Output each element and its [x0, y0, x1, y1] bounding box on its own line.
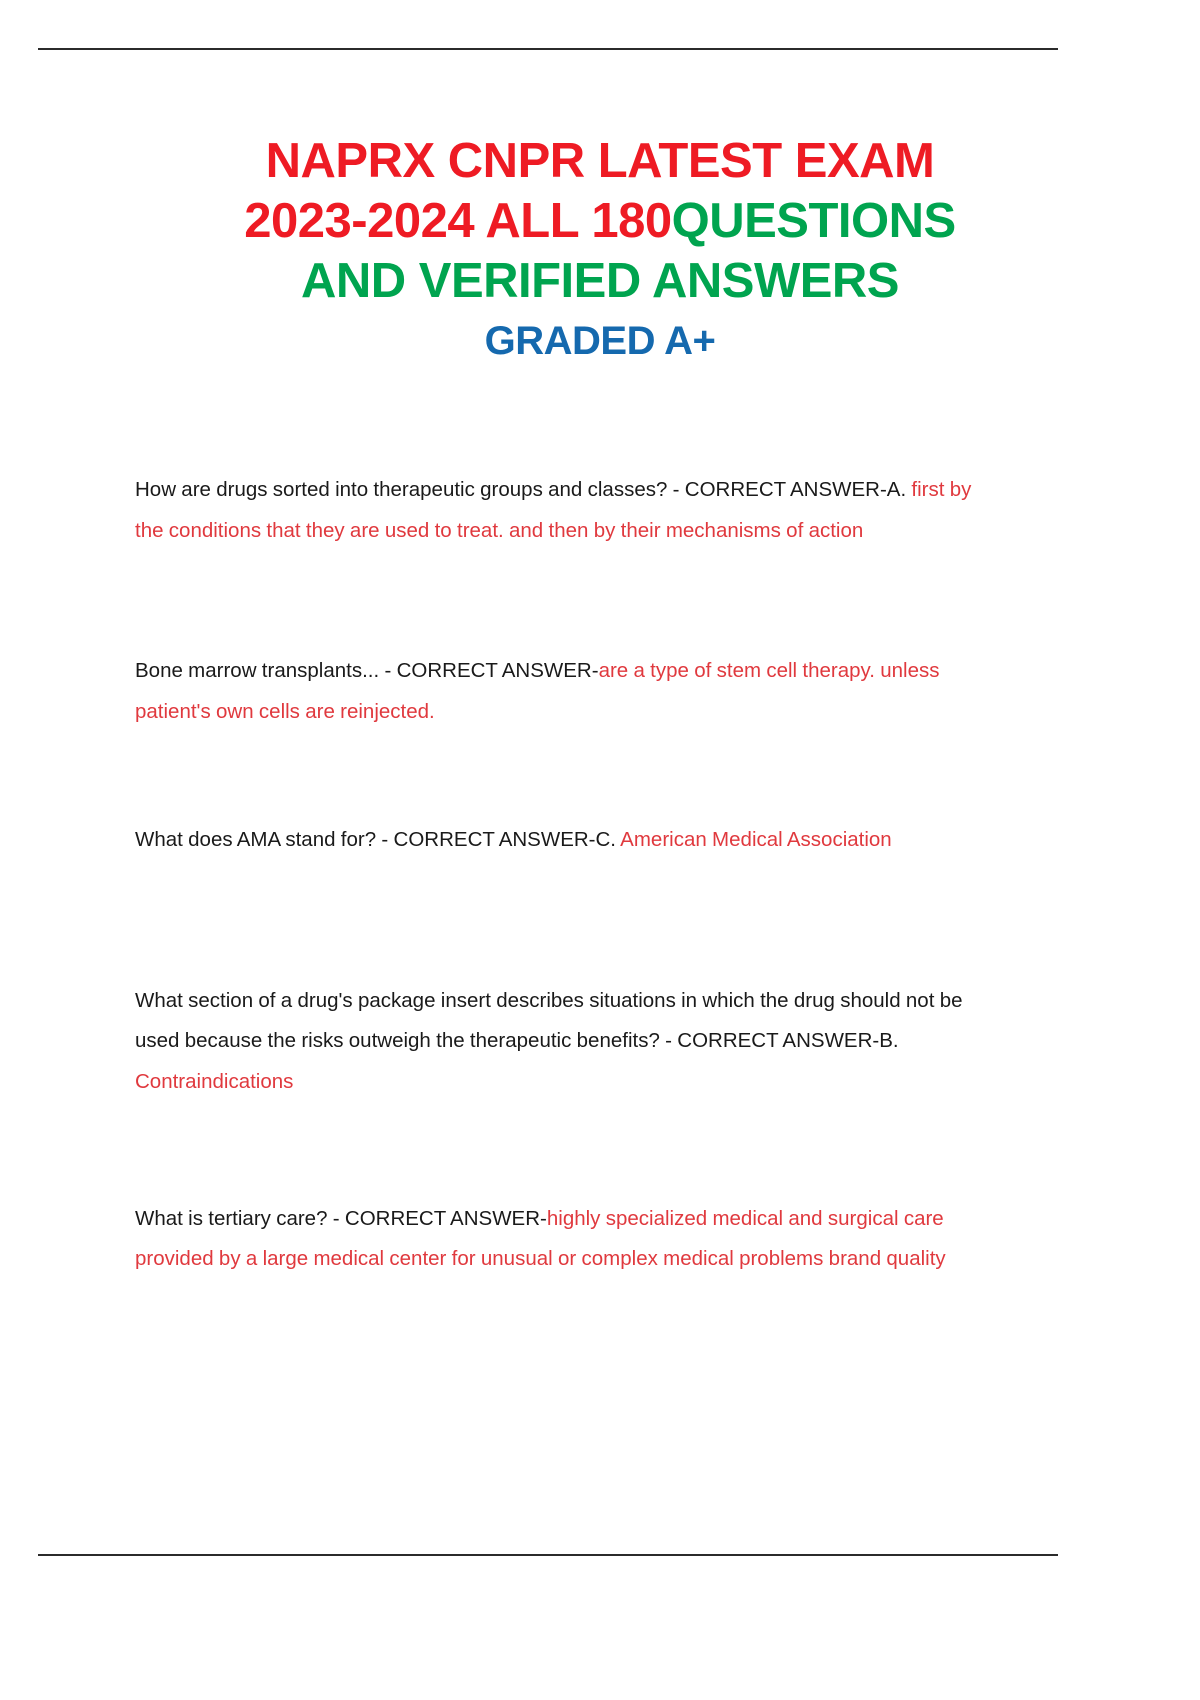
- qa-block: Bone marrow transplants... - CORRECT ANS…: [135, 651, 1005, 732]
- answer-separator: - CORRECT ANSWER-: [327, 1207, 546, 1230]
- title-line-4: GRADED A+: [110, 317, 1090, 366]
- qa-block: What is tertiary care? - CORRECT ANSWER-…: [135, 1199, 1005, 1280]
- title-line-3: AND VERIFIED ANSWERS: [110, 252, 1090, 312]
- question-text: What is tertiary care?: [135, 1207, 327, 1230]
- page-bottom-rule: [38, 1554, 1058, 1556]
- document-page: NAPRX CNPR LATEST EXAM 2023-2024 ALL 180…: [0, 0, 1200, 1700]
- question-text: How are drugs sorted into therapeutic gr…: [135, 478, 667, 501]
- qa-block: How are drugs sorted into therapeutic gr…: [135, 470, 1005, 551]
- answer-text: Contraindications: [135, 1070, 293, 1093]
- block-spacer: [135, 551, 1005, 651]
- title-line-4-text: GRADED A+: [485, 319, 716, 363]
- answer-separator: - CORRECT ANSWER-B.: [660, 1029, 899, 1052]
- block-spacer: [135, 732, 1005, 820]
- answer-separator: - CORRECT ANSWER-C.: [376, 828, 616, 851]
- block-spacer: [135, 1103, 1005, 1199]
- answer-separator: - CORRECT ANSWER-A.: [667, 478, 906, 501]
- answer-text: American Medical Association: [616, 828, 892, 851]
- title-line-2-red-text: 2023-2024 ALL 180: [244, 194, 671, 248]
- qa-list: How are drugs sorted into therapeutic gr…: [135, 470, 1005, 1280]
- question-text: Bone marrow transplants...: [135, 659, 379, 682]
- page-top-rule: [38, 48, 1058, 50]
- title-line-3-text: AND VERIFIED ANSWERS: [301, 254, 899, 308]
- question-text: What does AMA stand for?: [135, 828, 376, 851]
- qa-block: What section of a drug's package insert …: [135, 981, 1005, 1103]
- document-title: NAPRX CNPR LATEST EXAM 2023-2024 ALL 180…: [110, 132, 1090, 366]
- title-line-1: NAPRX CNPR LATEST EXAM: [110, 132, 1090, 192]
- block-spacer: [135, 861, 1005, 981]
- title-line-2: 2023-2024 ALL 180QUESTIONS: [110, 192, 1090, 252]
- answer-separator: - CORRECT ANSWER-: [379, 659, 598, 682]
- title-line-2-green-text: QUESTIONS: [672, 194, 956, 248]
- title-line-1-text: NAPRX CNPR LATEST EXAM: [266, 134, 935, 188]
- qa-block: What does AMA stand for? - CORRECT ANSWE…: [135, 820, 1005, 861]
